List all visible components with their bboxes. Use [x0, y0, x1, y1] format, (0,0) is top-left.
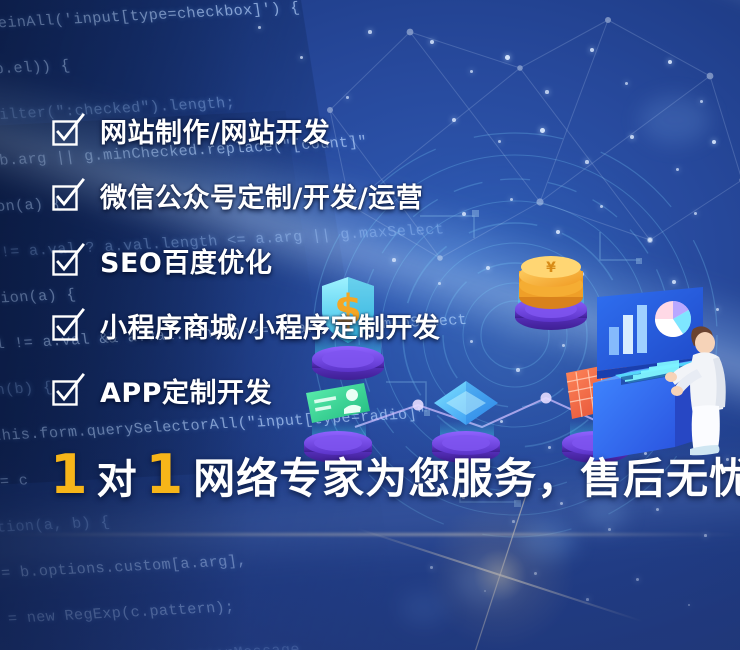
feature-label: 微信公众号定制/开发/运营	[100, 176, 423, 215]
checkbox-checked-icon	[52, 181, 82, 211]
feature-row: 小程序商城/小程序定制开发	[52, 293, 440, 358]
headline-number-second: 1	[146, 448, 184, 502]
feature-label: SEO百度优化	[100, 241, 272, 280]
feature-label: APP定制开发	[100, 371, 272, 410]
checkbox-checked-icon	[52, 116, 82, 146]
checkbox-checked-icon	[52, 246, 82, 276]
checkbox-checked-icon	[52, 311, 82, 341]
feature-label: 小程序商城/小程序定制开发	[100, 306, 440, 345]
promo-banner: .propWellbeinAll('input[type=checkbox]')…	[0, 0, 740, 650]
headline: 1 对 1 网络专家为您服务，售后无忧！	[50, 448, 740, 502]
feature-row: 网站制作/网站开发	[52, 98, 440, 163]
headline-rest: 网络专家为您服务，售后无忧！	[193, 458, 740, 500]
banner-content: 网站制作/网站开发微信公众号定制/开发/运营SEO百度优化小程序商城/小程序定制…	[0, 0, 740, 650]
feature-label: 网站制作/网站开发	[100, 111, 330, 150]
feature-list: 网站制作/网站开发微信公众号定制/开发/运营SEO百度优化小程序商城/小程序定制…	[52, 98, 440, 423]
feature-row: SEO百度优化	[52, 228, 440, 293]
feature-row: 微信公众号定制/开发/运营	[52, 163, 440, 228]
checkbox-checked-icon	[52, 376, 82, 406]
headline-middle-word: 对	[97, 460, 137, 500]
headline-number-first: 1	[50, 448, 88, 502]
feature-row: APP定制开发	[52, 358, 440, 423]
